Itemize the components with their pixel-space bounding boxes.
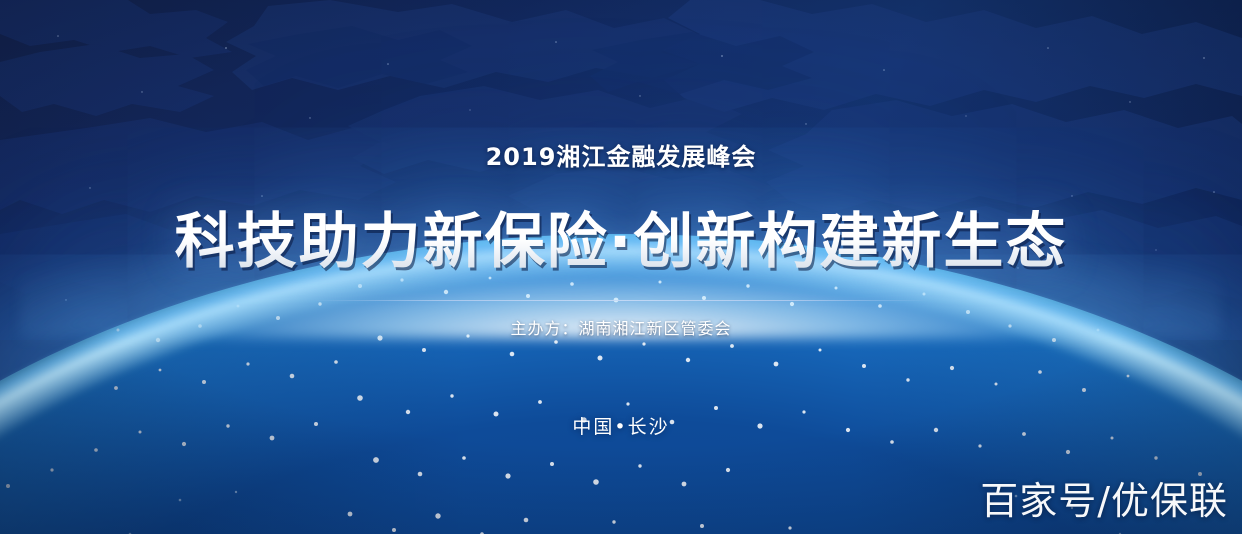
conference-poster: 2019湘江金融发展峰会 科技助力新保险·创新构建新生态 主办方：湖南湘江新区管… — [0, 0, 1242, 534]
publisher-watermark: 百家号/优保联 — [980, 478, 1228, 524]
poster-content: 2019湘江金融发展峰会 科技助力新保险·创新构建新生态 主办方：湖南湘江新区管… — [0, 0, 1242, 534]
location-line: 中国•长沙 — [0, 414, 1242, 440]
organizer-line: 主办方：湖南湘江新区管委会 — [0, 317, 1242, 341]
event-eyebrow: 2019湘江金融发展峰会 — [0, 142, 1242, 172]
poster-headline: 科技助力新保险·创新构建新生态 — [0, 205, 1242, 279]
headline-divider — [313, 300, 930, 301]
